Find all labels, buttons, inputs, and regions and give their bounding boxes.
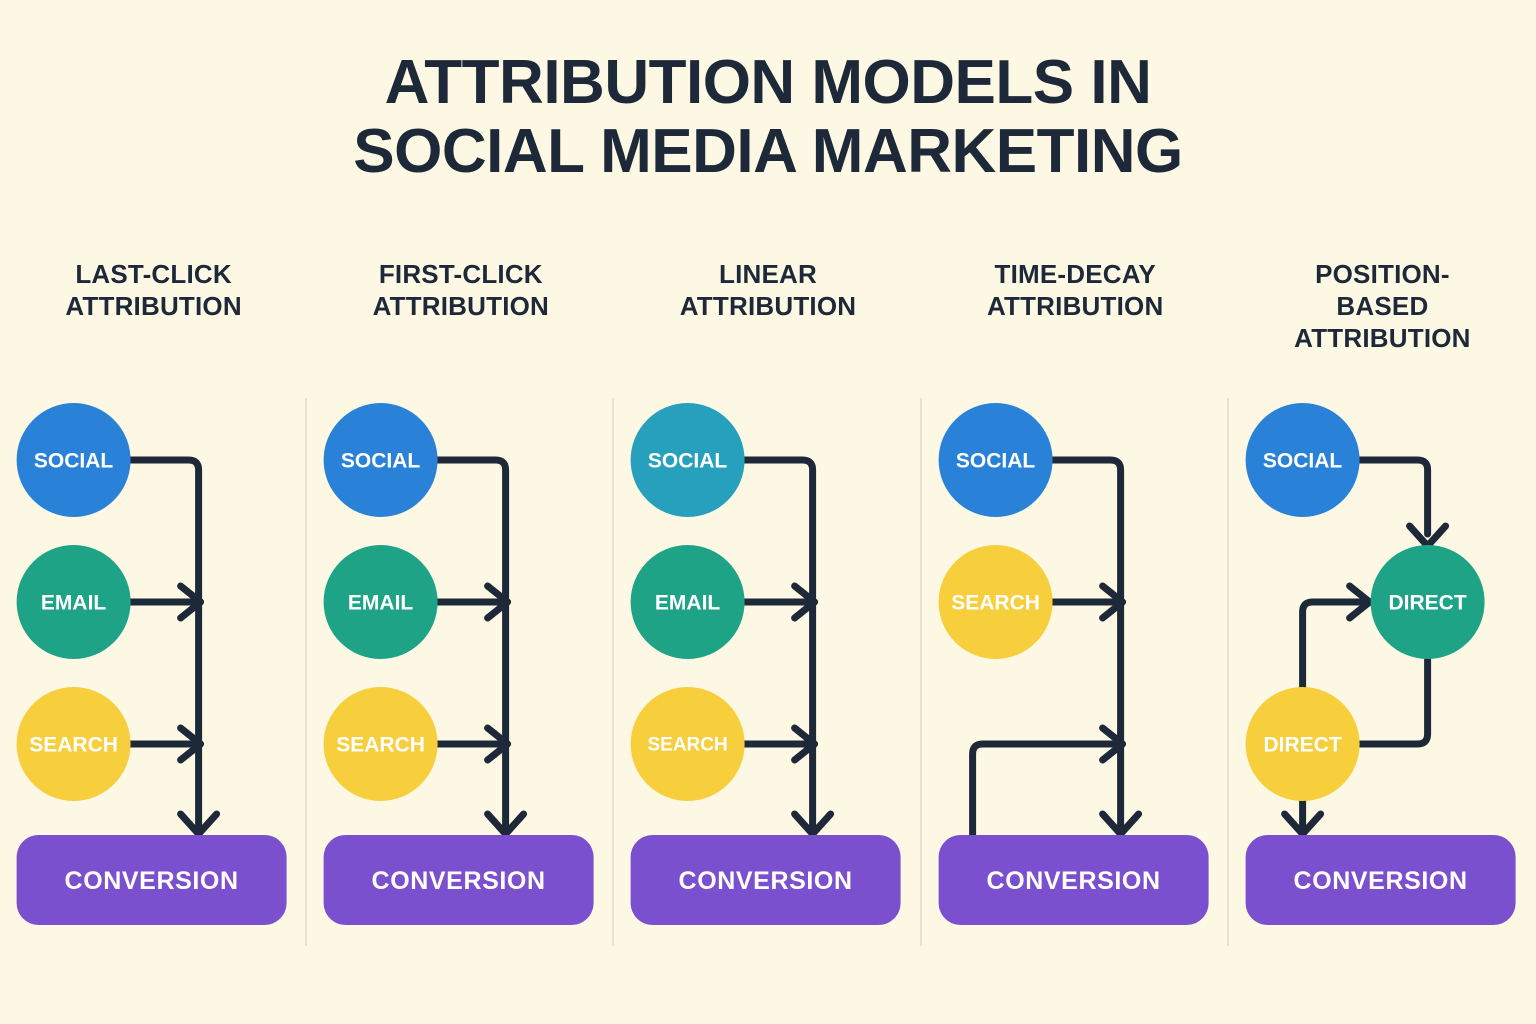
- header-line: FIRST-CLICK: [313, 258, 608, 290]
- flow-diagram-time-decay: SOCIAL SEARCH CONVERSION: [922, 398, 1229, 958]
- column-header-time-decay: TIME-DECAY ATTRIBUTION: [922, 258, 1229, 322]
- node-conversion-label: CONVERSION: [1293, 867, 1467, 895]
- column-header-linear: LINEAR ATTRIBUTION: [614, 258, 921, 322]
- header-line: ATTRIBUTION: [1235, 322, 1530, 354]
- column-header-position-based: POSITION- BASED ATTRIBUTION: [1229, 258, 1536, 355]
- header-line: ATTRIBUTION: [313, 290, 608, 322]
- header-line: ATTRIBUTION: [620, 290, 915, 322]
- header-line: TIME-DECAY: [928, 258, 1223, 290]
- node-direct-yellow-label: DIRECT: [1263, 734, 1341, 757]
- column-first-click: FIRST-CLICK ATTRIBUTION SOCIAL EMAIL: [307, 258, 614, 958]
- node-social-label: SOCIAL: [648, 450, 728, 473]
- column-linear: LINEAR ATTRIBUTION SOCIAL EMAIL SEAR: [614, 258, 921, 958]
- edge-social-to-trunk: [743, 460, 813, 828]
- node-conversion-label: CONVERSION: [65, 867, 239, 895]
- edge-direct-green-to-direct-yellow: [1359, 660, 1427, 744]
- node-email-label: EMAIL: [655, 592, 721, 615]
- header-line: BASED: [1235, 290, 1530, 322]
- header-line: LINEAR: [620, 258, 915, 290]
- title-line-2: SOCIAL MEDIA MARKETING: [0, 117, 1536, 186]
- node-social-label: SOCIAL: [1263, 450, 1343, 473]
- edge-social-to-trunk: [129, 460, 199, 828]
- column-header-first-click: FIRST-CLICK ATTRIBUTION: [307, 258, 614, 322]
- title-line-1: ATTRIBUTION MODELS IN: [0, 48, 1536, 117]
- node-search-label: SEARCH: [336, 734, 425, 757]
- node-conversion-label: CONVERSION: [679, 867, 853, 895]
- edge-loop-to-trunk: [972, 744, 1118, 835]
- node-direct-green-label: DIRECT: [1388, 592, 1466, 615]
- column-last-click: LAST-CLICK ATTRIBUTION SO: [0, 258, 307, 958]
- node-search-label: SEARCH: [648, 735, 728, 756]
- page-title: ATTRIBUTION MODELS IN SOCIAL MEDIA MARKE…: [0, 48, 1536, 187]
- node-social-label: SOCIAL: [34, 450, 114, 473]
- flow-diagram-first-click: SOCIAL EMAIL SEARCH CONVERSION: [307, 398, 614, 958]
- edge-social-to-trunk: [436, 460, 506, 828]
- column-header-last-click: LAST-CLICK ATTRIBUTION: [0, 258, 307, 322]
- flow-diagram-linear: SOCIAL EMAIL SEARCH CONVERSION: [614, 398, 921, 958]
- column-position-based: POSITION- BASED ATTRIBUTION: [1229, 258, 1536, 958]
- column-time-decay: TIME-DECAY ATTRIBUTION SOCIAL: [922, 258, 1229, 958]
- flow-diagram-last-click: SOCIAL EMAIL SEARCH CONVERSION: [0, 398, 307, 958]
- edge-social-to-trunk: [1050, 460, 1120, 828]
- model-columns: LAST-CLICK ATTRIBUTION SO: [0, 258, 1536, 958]
- node-social-label: SOCIAL: [341, 450, 421, 473]
- node-search-label: SEARCH: [29, 734, 118, 757]
- header-line: LAST-CLICK: [6, 258, 301, 290]
- edge-social-to-direct-green: [1357, 460, 1427, 534]
- header-line: POSITION-: [1235, 258, 1530, 290]
- node-conversion-label: CONVERSION: [372, 867, 546, 895]
- node-email-label: EMAIL: [41, 592, 107, 615]
- header-line: ATTRIBUTION: [6, 290, 301, 322]
- node-social-label: SOCIAL: [956, 450, 1036, 473]
- node-email-label: EMAIL: [348, 592, 414, 615]
- infographic-canvas: ATTRIBUTION MODELS IN SOCIAL MEDIA MARKE…: [0, 0, 1536, 1024]
- header-line: ATTRIBUTION: [928, 290, 1223, 322]
- node-search-label: SEARCH: [951, 592, 1040, 615]
- flow-diagram-position-based: SOCIAL DIRECT DIRECT CONVERSION: [1229, 398, 1536, 958]
- node-conversion-label: CONVERSION: [986, 867, 1160, 895]
